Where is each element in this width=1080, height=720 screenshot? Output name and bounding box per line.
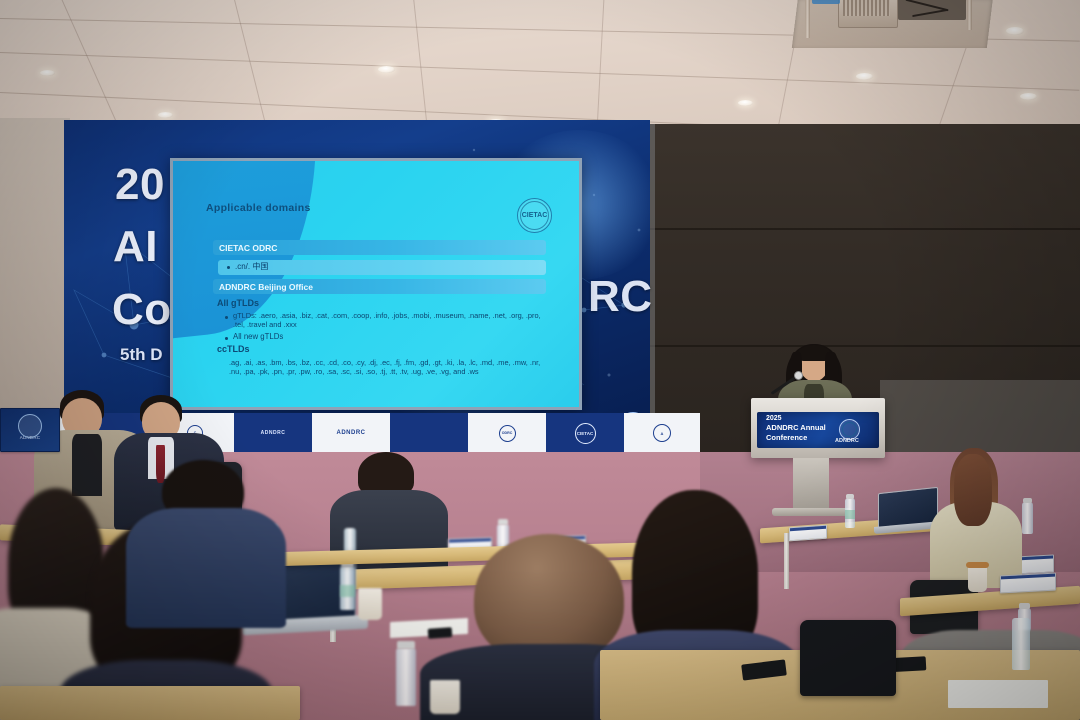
name-placard-stage-1 bbox=[789, 525, 827, 542]
presentation-slide: Applicable domains CIETAC CIETAC ODRC .c… bbox=[173, 161, 579, 407]
foreground-bottle-right bbox=[1012, 618, 1030, 670]
podium-adndrc-logo bbox=[839, 419, 860, 440]
sponsor-cell: A bbox=[624, 413, 700, 453]
slide-bullet-dot-1 bbox=[227, 266, 230, 269]
slide-band-label-adndrc-beijing: ADNDRC Beijing Office bbox=[219, 282, 313, 292]
conference-room-photo: 20 AI Co 5th D RC CIETAC Applicable doma… bbox=[0, 0, 1080, 720]
coffee-cup-center bbox=[358, 588, 382, 620]
foreground-man-navy-sweater bbox=[126, 508, 286, 628]
slide-bullet-cn-domains: .cn/. 中国 bbox=[235, 262, 268, 272]
bottle-cap-stage-2 bbox=[1023, 498, 1032, 503]
ceiling bbox=[0, 0, 1080, 132]
sponsor-cell: ODRC bbox=[468, 413, 546, 453]
water-bottle-stage-2 bbox=[1022, 502, 1033, 534]
wall-upper-left bbox=[0, 118, 70, 418]
slide-bullet-dot-2 bbox=[225, 316, 228, 319]
backdrop-date-line: 5th D bbox=[120, 345, 163, 365]
foreground-bottle-cap-left bbox=[397, 641, 415, 649]
ceiling-downlight-3 bbox=[856, 73, 873, 80]
slide-item-all-new-gtlds: All new gTLDs bbox=[233, 332, 283, 342]
projector-mount-pole-right bbox=[967, 0, 972, 30]
sponsor-cell: ADNDRC bbox=[234, 413, 312, 453]
slide-title: Applicable domains bbox=[206, 202, 311, 214]
projector-vent bbox=[843, 0, 890, 16]
ceiling-downlight-8 bbox=[40, 70, 55, 76]
backdrop-title-fragment-right: RC bbox=[588, 272, 653, 322]
bottle-cap-stage-1 bbox=[846, 494, 854, 499]
wall-seam-2 bbox=[646, 345, 1080, 347]
projector-recess-shadow bbox=[898, 0, 966, 20]
podium-sign-line2: ADNDRC Annual bbox=[766, 424, 826, 432]
coffee-cup-right bbox=[968, 566, 987, 592]
bottle-cap-right-front bbox=[1019, 603, 1030, 609]
bottle-label-stage-1 bbox=[845, 510, 855, 519]
slide-item-cctlds-list: .ag, .ai, .as, .bm, .bs, .bz, .cc, .cd, … bbox=[229, 358, 545, 376]
foreground-table-left bbox=[0, 686, 300, 720]
podium-logo-text: ADNDRC bbox=[835, 438, 859, 444]
foreground-paper bbox=[948, 680, 1048, 708]
sponsor-cell: CIETAC bbox=[546, 413, 624, 453]
ceiling-downlight-5 bbox=[1020, 93, 1037, 100]
slide-bullet-dot-3 bbox=[225, 337, 228, 340]
phone-center bbox=[428, 627, 453, 639]
ceiling-downlight-6 bbox=[738, 100, 753, 106]
slide-item-gtlds-list: gTLDs: .aero, .asia, .biz, .cat, .com, .… bbox=[233, 311, 543, 329]
slide-heading-cctlds: ccTLDs bbox=[217, 344, 250, 354]
ceiling-downlight-7 bbox=[158, 112, 173, 118]
slide-band-label-cietac-odrc: CIETAC ODRC bbox=[219, 243, 277, 253]
backdrop-title-line2: AI bbox=[113, 222, 158, 272]
projector-mount-pole-left bbox=[805, 0, 810, 38]
backdrop-title-line1: 20 bbox=[115, 160, 165, 210]
podium-sign-line1: 2025 bbox=[766, 415, 782, 423]
bottle-label-center bbox=[340, 585, 355, 597]
panelist-1-inner-shirt bbox=[72, 434, 102, 496]
ceiling-blue-reflection bbox=[812, 0, 840, 4]
foreground-chair-right bbox=[800, 620, 896, 696]
coffee-cup-lid-right bbox=[966, 562, 989, 568]
foreground-cup-left bbox=[430, 680, 460, 714]
slide-heading-all-gtlds: All gTLDs bbox=[217, 298, 259, 308]
podium-branding-sign: 2025 ADNDRC Annual Conference ADNDRC bbox=[757, 412, 879, 448]
podium-sign-line3: Conference bbox=[766, 434, 807, 442]
sponsor-cell: ADNDRC bbox=[312, 413, 390, 453]
panel-placard-logo bbox=[18, 414, 42, 438]
podium-column bbox=[793, 458, 829, 510]
foreground-bottle-left bbox=[396, 648, 416, 706]
wall-seam-1 bbox=[646, 228, 1080, 230]
name-placard-right bbox=[1000, 573, 1056, 594]
cietac-logo-icon: CIETAC bbox=[517, 198, 552, 233]
bottle-cap-back-1 bbox=[498, 519, 508, 525]
ceiling-downlight-1 bbox=[378, 66, 395, 73]
stage-table-leg-1 bbox=[784, 533, 789, 589]
backdrop-title-line3: Co bbox=[112, 285, 172, 335]
sponsor-cell bbox=[390, 413, 468, 453]
audience-woman-hair-front bbox=[954, 454, 992, 526]
ceiling-downlight-4 bbox=[1006, 27, 1024, 35]
podium-foot bbox=[772, 508, 852, 516]
foreground-man-navy bbox=[126, 470, 286, 630]
